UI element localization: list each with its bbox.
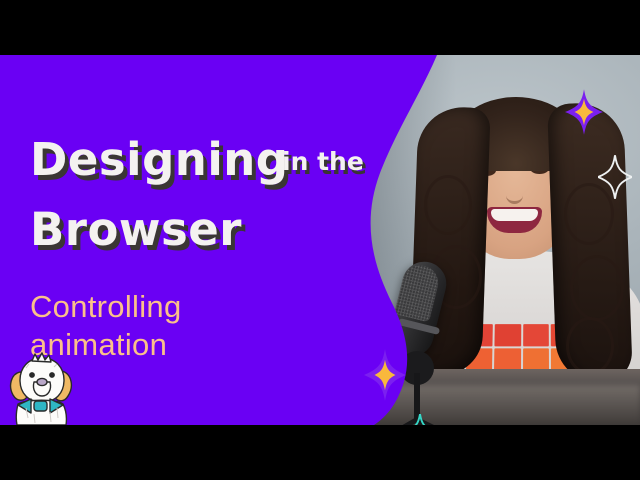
video-thumbnail-frame: Designing in the Browser Controlling ani…	[0, 0, 640, 480]
hair-curl	[424, 175, 472, 235]
hair-curl	[570, 255, 624, 321]
shirt-swatch-cell	[495, 324, 521, 346]
subtitle-line-1: Controlling	[30, 289, 182, 325]
dog-head-tuft	[32, 353, 51, 362]
title-line-small: in the	[282, 147, 364, 176]
hair-curl	[566, 317, 614, 375]
shirt-swatch-cell	[494, 348, 521, 370]
title-line-1: Designing	[30, 133, 289, 186]
dog-eye-right	[50, 373, 54, 377]
microphone-stem	[414, 373, 420, 423]
thumbnail-content: Designing in the Browser Controlling ani…	[0, 55, 640, 425]
dog-nose	[37, 378, 47, 385]
hair-curl	[564, 183, 614, 245]
title-line-2: Browser	[30, 203, 242, 256]
dog-bowtie-knot	[34, 401, 47, 411]
dog-mascot-logo	[4, 352, 80, 425]
letterbox-bar-top	[0, 0, 640, 55]
teeth	[491, 209, 538, 221]
nose	[506, 181, 523, 204]
letterbox-bar-bottom	[0, 425, 640, 480]
dog-eye-left	[30, 373, 34, 377]
shirt-swatch-cell	[523, 324, 549, 346]
shirt-swatch-cell	[523, 348, 549, 370]
